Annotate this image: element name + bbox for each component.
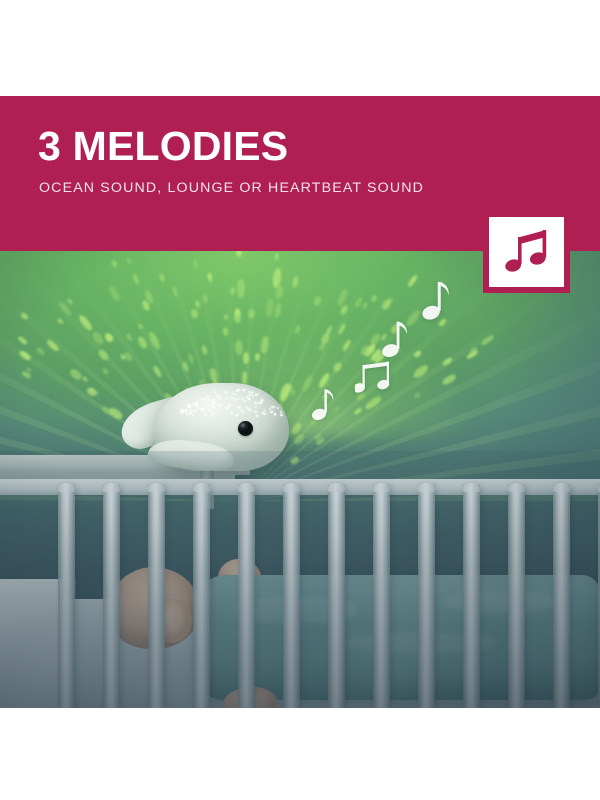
crib-slat (463, 485, 480, 708)
banner-subtitle: OCEAN SOUND, LOUNGE OR HEARTBEAT SOUND (39, 181, 424, 195)
crib-slat (508, 485, 525, 708)
music-note-beamed-icon (504, 227, 550, 277)
product-feature-poster: 3 MELODIES OCEAN SOUND, LOUNGE OR HEARTB… (0, 0, 600, 800)
crib-slat-cap (238, 483, 255, 492)
crib-slat-cap (373, 483, 390, 492)
crib-slat (58, 485, 75, 708)
whale-eye (238, 421, 253, 436)
eighth-note-icon (420, 279, 452, 322)
crib-slat-cap (508, 483, 525, 492)
product-lifestyle-photo (0, 251, 600, 708)
crib-slat-cap (148, 483, 165, 492)
crib-slat (283, 485, 300, 708)
crib-slat (373, 485, 390, 708)
crib-slat-cap (193, 483, 210, 492)
crib-slat-cap (283, 483, 300, 492)
crib-slat-cap (418, 483, 435, 492)
badge-inner (489, 217, 564, 287)
baby-sleep-sack (196, 575, 600, 700)
eighth-note-icon (310, 387, 336, 422)
crib-slat (418, 485, 435, 708)
crib-slat (148, 485, 165, 708)
white-crib (0, 479, 600, 708)
beamed-eighth-notes-icon (355, 361, 393, 397)
crib-slat-cap (58, 483, 75, 492)
crib-slat (238, 485, 255, 708)
crib-slat (553, 485, 570, 708)
crib-slat (328, 485, 345, 708)
music-feature-badge (483, 211, 570, 293)
whale-star-dome (178, 381, 282, 415)
page-title: 3 MELODIES (38, 126, 288, 167)
crib-slat (193, 485, 210, 708)
crib-slat (103, 485, 120, 708)
crib-slat-cap (328, 483, 345, 492)
crib-slat-cap (103, 483, 120, 492)
crib-slat-cap (463, 483, 480, 492)
crib-slat-cap (553, 483, 570, 492)
whale-night-light-projector (118, 379, 298, 489)
eighth-note-icon (380, 319, 410, 360)
